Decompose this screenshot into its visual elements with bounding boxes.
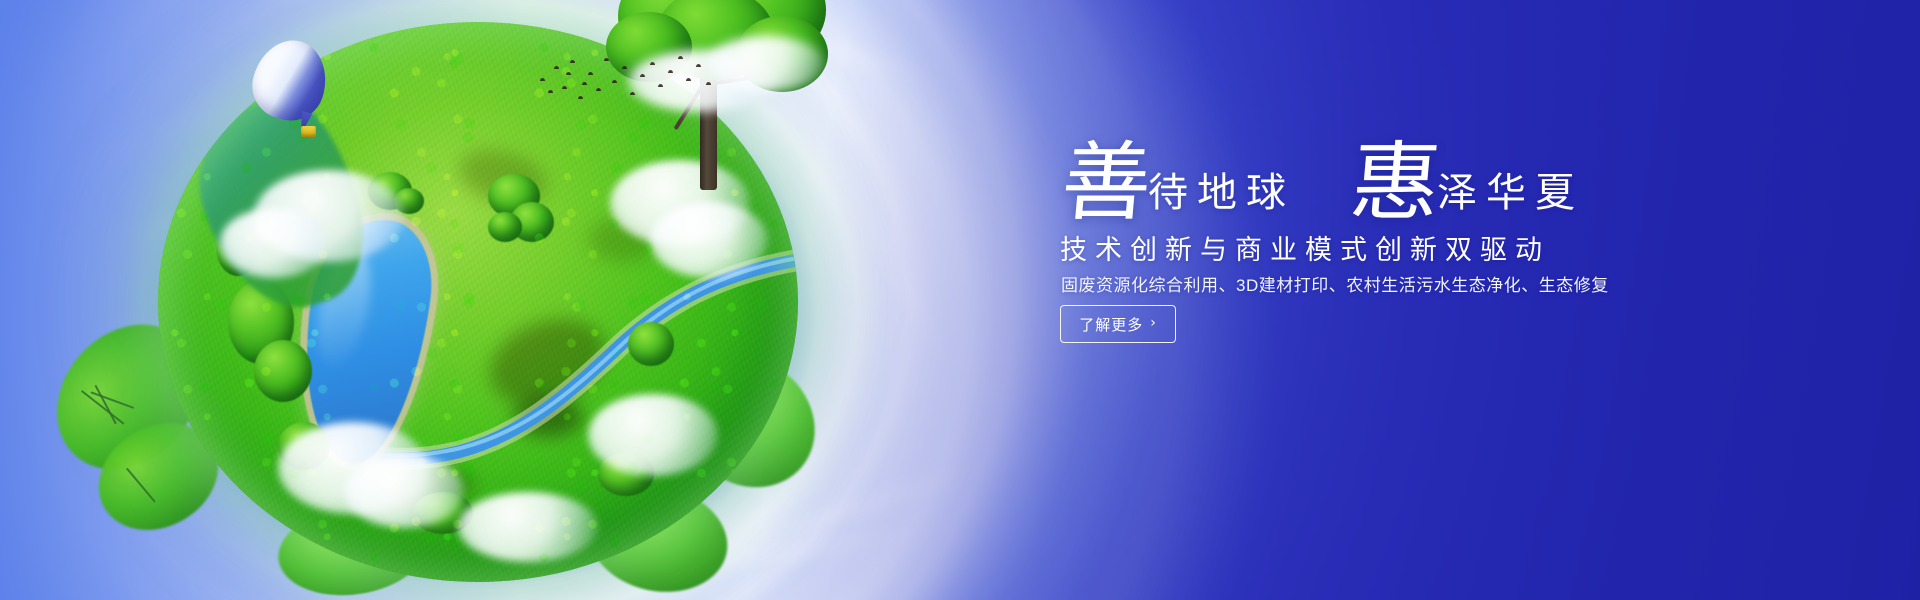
bush [216,218,260,276]
balloon-basket [301,126,316,137]
bush [628,322,674,366]
hot-air-balloon-icon [254,40,336,145]
hero-banner: 善 待地球 惠 泽华夏 技术创新与商业模式创新双驱动 固废资源化综合利用、3D建… [0,0,1920,600]
bush [394,188,424,214]
bush [510,202,554,242]
headline: 善 待地球 惠 泽华夏 [1058,140,1584,226]
earth-patch [478,304,618,420]
earth-patch [373,462,479,521]
banner-content: 善 待地球 惠 泽华夏 技术创新与商业模式创新双驱动 固废资源化综合利用、3D建… [1058,0,1838,600]
earth-patch [588,217,658,262]
surface-cloud [344,454,464,528]
learn-more-button[interactable]: 了解更多 › [1060,305,1176,343]
surface-cloud [650,202,768,278]
bush [254,340,312,402]
headline-big-char-1: 善 [1058,140,1155,226]
bush [228,280,294,364]
lake [289,211,440,471]
headline-group-2: 惠 泽华夏 [1347,140,1584,226]
surface-cloud [220,208,328,278]
headline-group-1: 善 待地球 [1058,140,1295,226]
tree-mist-cloud [706,36,826,92]
bush [413,492,473,534]
headline-big-char-2: 惠 [1347,140,1444,226]
headline-small-text-1: 待地球 [1148,173,1295,213]
lake-highlight [308,243,380,370]
earth-patch [453,141,553,213]
bird-flock-icon [536,52,716,122]
balloon-envelope [244,32,335,129]
chevron-right-icon: › [1150,316,1157,330]
surface-cloud [278,422,428,514]
bush [488,212,522,242]
tiny-planet-illustration [158,22,798,582]
banner-description: 固废资源化综合利用、3D建材打印、农村生活污水生态净化、生态修复 [1061,271,1609,296]
surface-cloud [588,394,718,476]
bush [368,172,412,210]
banner-subtitle: 技术创新与商业模式创新双驱动 [1060,228,1550,267]
learn-more-label: 了解更多 [1079,314,1143,335]
surface-cloud [254,170,404,262]
surface-cloud [458,492,598,562]
headline-small-text-2: 泽华夏 [1437,173,1584,213]
earth-patch [513,397,583,437]
bush [278,422,330,470]
bush [488,174,540,218]
bush [598,452,654,496]
